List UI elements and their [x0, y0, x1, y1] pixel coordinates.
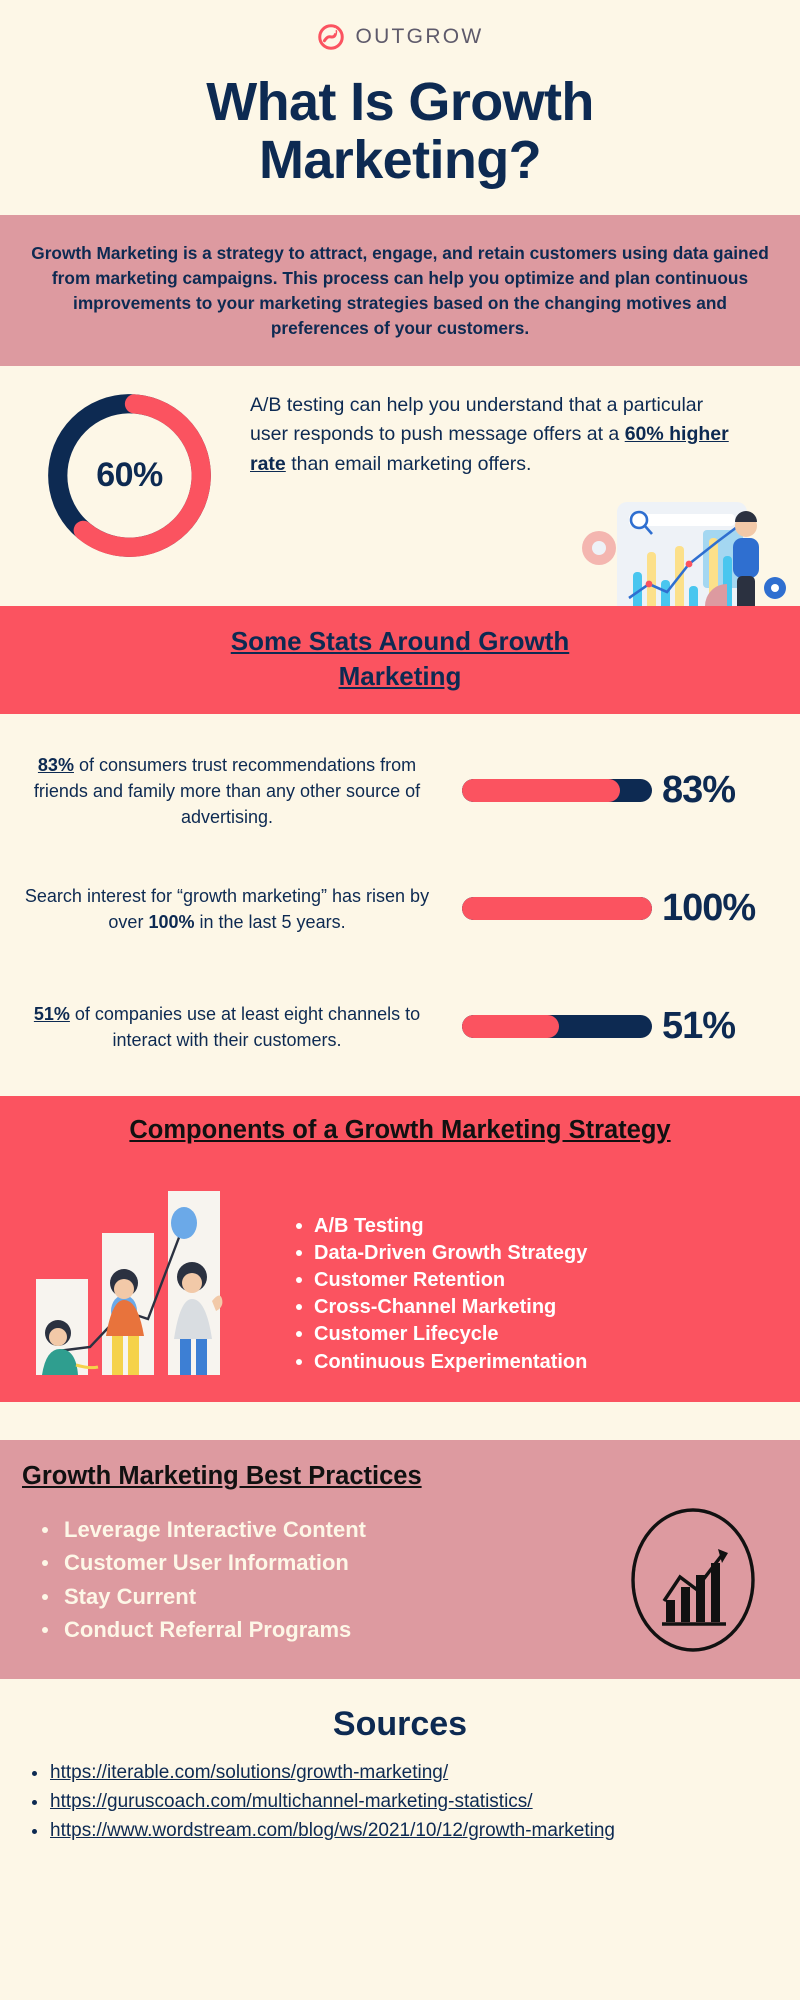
list-item: Data-Driven Growth Strategy: [292, 1240, 587, 1267]
stat-value: 51%: [662, 1005, 735, 1048]
intro-band: Growth Marketing is a strategy to attrac…: [0, 215, 800, 366]
list-item: Continuous Experimentation: [292, 1349, 587, 1376]
stat-copy: Search interest for “growth marketing” h…: [0, 883, 462, 935]
stat-lead: 83%: [38, 755, 74, 775]
components-title-text: Components of a Growth Marketing Strateg…: [129, 1116, 670, 1144]
source-link[interactable]: https://guruscoach.com/multichannel-mark…: [50, 1791, 533, 1812]
components-title: Components of a Growth Marketing Strateg…: [0, 1116, 800, 1145]
outgrow-logo-icon: [316, 22, 346, 52]
stat-text: of consumers trust recommendations from …: [34, 755, 420, 827]
bar-chart-growth-circle-icon: [618, 1505, 768, 1655]
brand-header: OUTGROW: [0, 0, 800, 52]
sources-section: Sources https://iterable.com/solutions/g…: [0, 1679, 800, 1865]
stats-band: Some Stats Around Growth Marketing: [0, 606, 800, 714]
list-item: Cross-Channel Marketing: [292, 1294, 587, 1321]
stats-band-title: Some Stats Around Growth Marketing: [160, 624, 640, 694]
progress-bar: [462, 897, 652, 920]
list-item: Customer User Information: [38, 1546, 618, 1579]
stat-value: 83%: [662, 769, 735, 812]
stat-text-bold: 100%: [148, 912, 194, 932]
list-item: https://www.wordstream.com/blog/ws/2021/…: [28, 1818, 800, 1845]
sources-list: https://iterable.com/solutions/growth-ma…: [0, 1760, 800, 1845]
stat-text-post: in the last 5 years.: [195, 912, 346, 932]
best-practices-title-text: Growth Marketing Best Practices: [22, 1462, 422, 1490]
ab-text-after: than email marketing offers.: [286, 453, 532, 475]
stat-row: 51% of companies use at least eight chan…: [0, 968, 800, 1086]
stat-meter: 51%: [462, 1005, 800, 1048]
best-practices-list: Leverage Interactive Content Customer Us…: [0, 1513, 618, 1647]
donut-chart: 60%: [42, 388, 217, 563]
intro-text: Growth Marketing is a strategy to attrac…: [30, 241, 770, 342]
list-item: Customer Lifecycle: [292, 1321, 587, 1348]
best-practices-band: Growth Marketing Best Practices Leverage…: [0, 1440, 800, 1679]
list-item: https://iterable.com/solutions/growth-ma…: [28, 1760, 800, 1787]
stats-band-title-line1: Some Stats Around Growth: [231, 626, 570, 656]
team-growth-chart-illustration: [24, 1161, 274, 1376]
list-item: A/B Testing: [292, 1213, 587, 1240]
list-item: https://guruscoach.com/multichannel-mark…: [28, 1789, 800, 1816]
page-title: What Is Growth Marketing?: [0, 74, 800, 190]
donut-value-label: 60%: [42, 388, 217, 563]
stat-row: 83% of consumers trust recommendations f…: [0, 732, 800, 850]
stat-meter: 83%: [462, 769, 800, 812]
list-item: Customer Retention: [292, 1267, 587, 1294]
sources-title: Sources: [0, 1705, 800, 1744]
infographic-page: OUTGROW What Is Growth Marketing? Growth…: [0, 0, 800, 2000]
source-link[interactable]: https://iterable.com/solutions/growth-ma…: [50, 1762, 448, 1783]
brand-name: OUTGROW: [355, 25, 483, 49]
stat-value: 100%: [662, 887, 755, 930]
components-list: A/B Testing Data-Driven Growth Strategy …: [274, 1213, 587, 1376]
progress-bar: [462, 1015, 652, 1038]
section-divider: [0, 1402, 800, 1440]
stat-meter: 100%: [462, 887, 800, 930]
stat-rows: 83% of consumers trust recommendations f…: [0, 714, 800, 1096]
best-practices-body: Leverage Interactive Content Customer Us…: [0, 1505, 800, 1655]
stat-text: of companies use at least eight channels…: [70, 1004, 420, 1050]
stats-band-title-line2: Marketing: [339, 661, 462, 691]
ab-test-text: A/B testing can help you understand that…: [250, 391, 730, 480]
stat-copy: 51% of companies use at least eight chan…: [0, 1001, 462, 1053]
ab-test-section: 60% A/B testing can help you understand …: [0, 366, 800, 606]
list-item: Stay Current: [38, 1580, 618, 1613]
components-band: Components of a Growth Marketing Strateg…: [0, 1096, 800, 1402]
stat-lead: 51%: [34, 1004, 70, 1024]
list-item: Leverage Interactive Content: [38, 1513, 618, 1546]
source-link[interactable]: https://www.wordstream.com/blog/ws/2021/…: [50, 1820, 615, 1841]
progress-bar: [462, 779, 652, 802]
stat-copy: 83% of consumers trust recommendations f…: [0, 752, 462, 830]
list-item: Conduct Referral Programs: [38, 1613, 618, 1646]
stat-row: Search interest for “growth marketing” h…: [0, 850, 800, 968]
best-practices-title: Growth Marketing Best Practices: [0, 1462, 800, 1491]
components-body: A/B Testing Data-Driven Growth Strategy …: [0, 1161, 800, 1376]
